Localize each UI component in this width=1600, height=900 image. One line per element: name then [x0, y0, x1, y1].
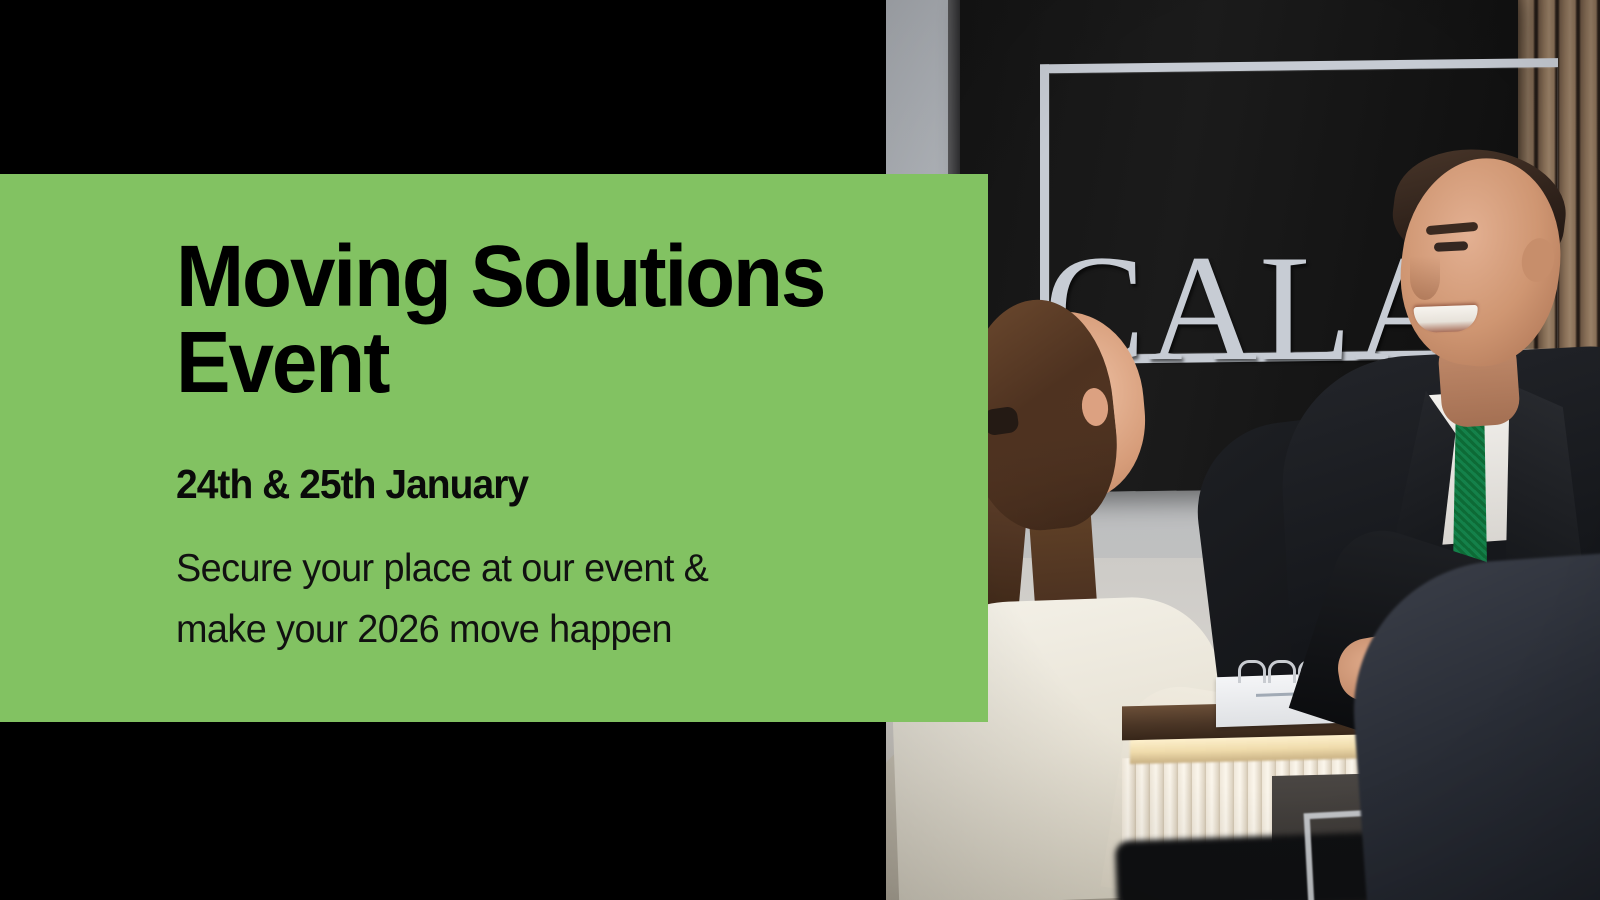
event-photograph: CALA	[886, 0, 1600, 900]
copy-block: Moving Solutions Event 24th & 25th Janua…	[176, 174, 976, 660]
man-eye	[1434, 241, 1468, 252]
binder-ring	[1238, 660, 1266, 683]
event-dates: 24th & 25th January	[176, 406, 936, 507]
body-copy: Secure your place at our event & make yo…	[176, 507, 952, 660]
headline: Moving Solutions Event	[176, 174, 928, 406]
man-nose	[1410, 256, 1440, 300]
banner-canvas: CALA	[0, 0, 1600, 900]
binder-ring	[1268, 660, 1296, 683]
green-copy-panel: Moving Solutions Event 24th & 25th Janua…	[0, 174, 988, 722]
